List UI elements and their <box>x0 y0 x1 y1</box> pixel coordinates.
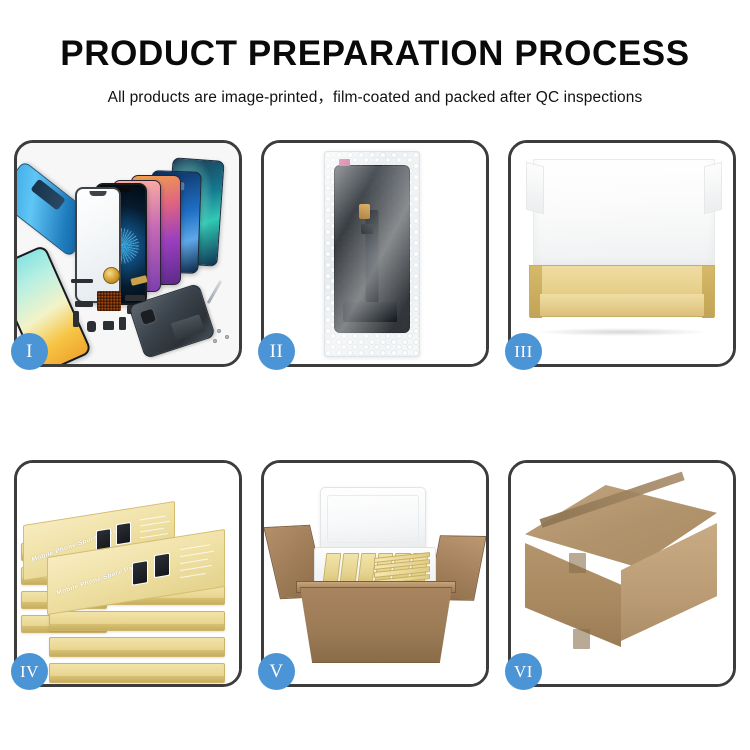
product-preparation-page: PRODUCT PREPARATION PROCESS All products… <box>0 0 750 750</box>
camera-module-icon <box>87 321 96 332</box>
process-step-6: VI <box>508 460 736 687</box>
page-subtitle: All products are image-printed，film-coat… <box>0 85 750 107</box>
spec-line <box>140 521 170 527</box>
spec-line <box>180 551 214 558</box>
process-step-4: Mobile Phone Spare Parts Mobile Phone Sp… <box>14 460 242 687</box>
step-2-image <box>264 143 486 364</box>
page-header: PRODUCT PREPARATION PROCESS All products… <box>0 0 750 107</box>
lcd-connector-icon <box>343 302 397 322</box>
rear-camera-icon <box>139 307 158 326</box>
spec-line <box>140 528 164 533</box>
vibrator-icon <box>103 321 114 330</box>
driver-ic-icon <box>361 224 373 234</box>
drop-shadow <box>537 328 707 336</box>
step-4-image: Mobile Phone Spare Parts Mobile Phone Sp… <box>17 463 239 684</box>
carton-with-foam-cooler-scene <box>264 463 486 684</box>
process-step-5: V <box>261 460 489 687</box>
repair-tool-icon <box>207 280 223 304</box>
bubble-wrapped-lcd-scene <box>264 143 486 364</box>
flex-cable-icon <box>75 301 93 307</box>
product-photo-thumb <box>132 560 148 586</box>
stacked-retail-boxes-scene: Mobile Phone Spare Parts Mobile Phone Sp… <box>17 463 239 684</box>
white-box-lid-icon <box>533 159 715 271</box>
sim-tray-icon <box>119 317 126 330</box>
open-kraft-box-scene <box>511 143 733 364</box>
step-badge-4: IV <box>11 653 48 690</box>
step-badge-2: II <box>258 333 295 370</box>
step-3-image <box>511 143 733 364</box>
step-1-image <box>17 143 239 364</box>
stacked-box-edge <box>49 611 225 631</box>
product-photo-thumb <box>154 553 170 579</box>
phone-screens-and-parts-scene <box>17 143 239 364</box>
bubble-wrap-bag-icon <box>324 151 420 357</box>
process-step-grid: I <box>14 140 736 687</box>
carton-tape-patch-icon <box>569 553 586 573</box>
process-step-1: I <box>14 140 242 367</box>
spec-line <box>180 559 208 565</box>
battery-icon <box>171 314 205 340</box>
styrofoam-lid-icon <box>320 487 426 553</box>
screw-icon <box>217 329 221 333</box>
stacked-box-edge <box>49 663 225 683</box>
carton-body-icon <box>300 587 452 663</box>
spec-line <box>180 565 212 571</box>
step-badge-6: VI <box>505 653 542 690</box>
speaker-mesh-icon <box>103 267 120 284</box>
gold-flex-tab-icon <box>359 204 370 219</box>
screw-icon <box>225 335 229 339</box>
process-step-3: III <box>508 140 736 367</box>
spec-line <box>140 515 166 521</box>
spec-line <box>180 544 210 550</box>
step-badge-1: I <box>11 333 48 370</box>
carton-tape-patch-icon <box>573 629 590 649</box>
sealed-carton-scene <box>511 463 733 684</box>
box-stack: Mobile Phone Spare Parts Mobile Phone Sp… <box>21 487 237 677</box>
box-label-text: Mobile Phone Spare Parts <box>56 562 142 597</box>
product-photo-thumb <box>116 522 131 545</box>
gold-connector-icon <box>130 275 147 286</box>
copper-mesh-icon <box>97 291 121 311</box>
antenna-flex-icon <box>71 279 93 283</box>
side-button-icon <box>73 311 79 327</box>
page-title: PRODUCT PREPARATION PROCESS <box>0 36 750 73</box>
box-front-face <box>540 294 704 316</box>
step-5-image <box>264 463 486 684</box>
spec-line <box>180 573 206 579</box>
step-badge-3: III <box>505 333 542 370</box>
kraft-box-base-icon <box>529 265 715 317</box>
qc-sticker-icon <box>339 159 350 166</box>
stacked-box-edge <box>49 637 225 657</box>
process-step-2: II <box>261 140 489 367</box>
step-6-image <box>511 463 733 684</box>
protector-notch-icon <box>90 191 107 196</box>
screw-icon <box>213 339 217 343</box>
step-badge-5: V <box>258 653 295 690</box>
